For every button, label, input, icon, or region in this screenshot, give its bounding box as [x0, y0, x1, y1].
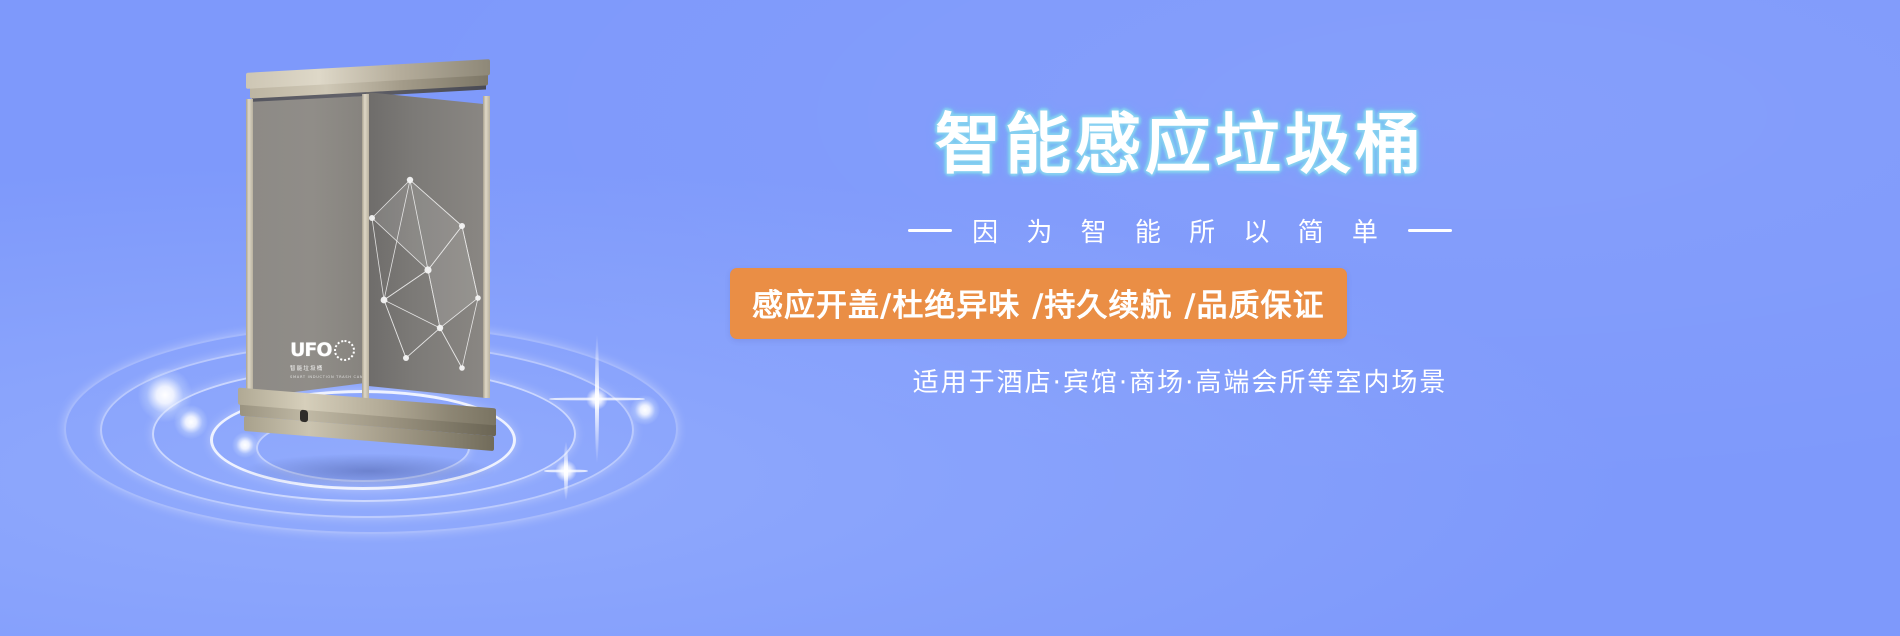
feature-badge: 感应开盖/杜绝异味 /持久续航 /品质保证	[730, 268, 1347, 339]
brand-logo: UFO 智能垃圾桶 SMART INDUCTION TRASH CAN	[290, 340, 368, 379]
bin-base-port	[300, 410, 308, 423]
bin-edge-left	[246, 99, 253, 399]
sparkle-star-icon-1	[596, 398, 597, 399]
brand-logo-mark: UFO	[290, 340, 368, 361]
sparkle-star-icon-2	[565, 470, 566, 471]
copy-block: 智能感应垃圾桶 因 为 智 能 所 以 简 单 感应开盖/杜绝异味 /持久续航 …	[700, 0, 1900, 636]
headline: 智能感应垃圾桶	[700, 112, 1660, 178]
tagline: 适用于酒店·宾馆·商场·高端会所等室内场景	[700, 362, 1660, 399]
brand-logo-text: UFO	[290, 341, 332, 360]
bin-ground-shadow	[244, 454, 494, 488]
polygon-network-graphic	[366, 122, 488, 392]
brand-ring-icon	[334, 340, 355, 361]
product-scene: UFO 智能垃圾桶 SMART INDUCTION TRASH CAN	[0, 0, 760, 636]
rule-left	[908, 229, 952, 232]
bin-edge-right	[483, 96, 490, 398]
glow-dot-2	[174, 405, 208, 439]
brand-logo-cn: 智能垃圾桶	[290, 364, 368, 372]
bin-edge-center	[362, 94, 369, 399]
promo-banner: UFO 智能垃圾桶 SMART INDUCTION TRASH CAN	[0, 0, 1900, 636]
rule-right	[1408, 229, 1452, 232]
subline: 因 为 智 能 所 以 简 单	[700, 212, 1660, 249]
subline-text: 因 为 智 能 所 以 简 单	[972, 212, 1388, 249]
brand-logo-sub: SMART INDUCTION TRASH CAN	[290, 375, 368, 379]
bin-body: UFO 智能垃圾桶 SMART INDUCTION TRASH CAN	[248, 92, 486, 402]
